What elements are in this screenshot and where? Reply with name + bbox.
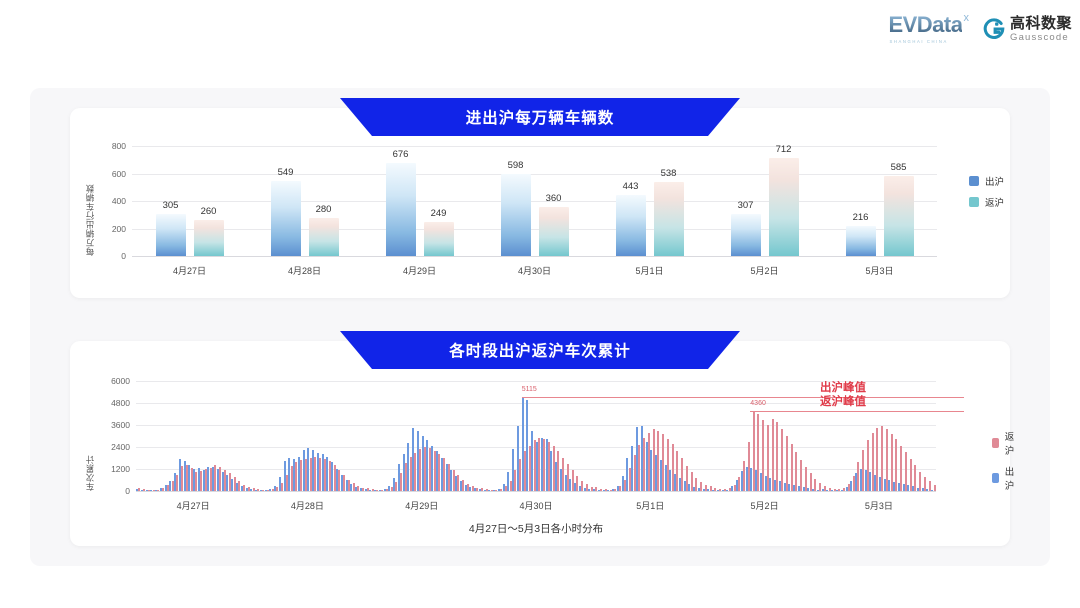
- chart2-gridline: [136, 381, 936, 382]
- chart1-title-banner: 进出沪每万辆车辆数: [340, 98, 740, 136]
- slide-root: EVData x SHANGHAI CHINA 高科数聚 Gausscode 进…: [0, 0, 1080, 608]
- chart2-legend-swatch: [992, 438, 999, 448]
- chart1-legend-item: 返沪: [969, 195, 1004, 209]
- chart1-bar: [769, 158, 799, 256]
- chart1-bar: [386, 163, 416, 256]
- chart1-y-tick: 600: [92, 169, 126, 179]
- chart2-x-tick: 4月29日: [405, 499, 438, 512]
- chart1-bar-value: 307: [738, 200, 754, 211]
- chart1-legend-swatch: [969, 176, 979, 186]
- chart1-legend-label: 返沪: [985, 195, 1004, 209]
- chart1-gridline: [132, 201, 937, 202]
- chart2-title-banner: 各时段出沪返沪车次累计: [340, 331, 740, 369]
- chart1-x-axis: [132, 256, 937, 257]
- evdata-logo-icon: EVData x SHANGHAI CHINA: [888, 14, 969, 44]
- chart2-hour-bar-back: [795, 452, 797, 491]
- chart1-bar-value: 585: [891, 162, 907, 173]
- chart2-legend-swatch: [992, 473, 999, 483]
- chart1-bar: [884, 176, 914, 256]
- chart2-peak-line: [522, 397, 964, 398]
- evdata-superscript: x: [963, 12, 969, 24]
- chart-card-daily-vehicles: 进出沪每万辆车辆数 每万辆出行车辆数02004006008003052604月2…: [70, 108, 1010, 298]
- content-panel: 进出沪每万辆车辆数 每万辆出行车辆数02004006008003052604月2…: [30, 88, 1050, 566]
- chart2-hour-bar-back: [791, 444, 793, 491]
- chart1-legend: 出沪返沪: [969, 174, 1004, 209]
- chart1-bar: [309, 218, 339, 257]
- chart1-bar-value: 676: [393, 149, 409, 160]
- chart2-x-tick: 5月1日: [636, 499, 664, 512]
- chart2-x-tick: 5月2日: [751, 499, 779, 512]
- chart1-bar: [731, 214, 761, 256]
- chart2-y-tick: 3600: [94, 420, 130, 430]
- chart1-bar: [194, 220, 224, 256]
- chart1-y-tick: 800: [92, 141, 126, 151]
- chart1-bar-value: 249: [431, 208, 447, 219]
- chart2-legend-label: 出沪: [1005, 464, 1018, 492]
- chart1-legend-swatch: [969, 197, 979, 207]
- chart2-x-tick: 4月30日: [519, 499, 552, 512]
- chart2-x-tick: 4月28日: [291, 499, 324, 512]
- chart1-bar: [846, 226, 876, 256]
- chart2-legend-label: 返沪: [1005, 429, 1018, 457]
- chart1-gridline: [132, 174, 937, 175]
- chart1-bar-value: 305: [163, 200, 179, 211]
- chart2-y-tick: 1200: [94, 464, 130, 474]
- chart1-bar: [271, 181, 301, 256]
- chart1-gridline: [132, 146, 937, 147]
- chart2-peak-line: [750, 411, 964, 412]
- chart1-bar: [539, 207, 569, 257]
- chart2-peak-value: 4360: [750, 400, 766, 407]
- gausscode-cn-name: 高科数聚: [1010, 16, 1072, 31]
- chart2-hour-bar-back: [781, 429, 783, 491]
- chart1-gridline: [132, 229, 937, 230]
- chart2-legend: 返沪出沪: [992, 429, 1018, 492]
- gausscode-en-name: Gausscode: [1010, 33, 1072, 43]
- chart2-peak-value: 5115: [522, 386, 537, 393]
- chart1-x-tick: 5月3日: [865, 264, 893, 277]
- chart1-bar-value: 260: [201, 206, 217, 217]
- logo-bar: EVData x SHANGHAI CHINA 高科数聚 Gausscode: [888, 14, 1072, 44]
- chart1-bar: [501, 174, 531, 256]
- chart1-legend-item: 出沪: [969, 174, 1004, 188]
- chart1-bar-value: 538: [661, 168, 677, 179]
- chart1-y-tick: 200: [92, 224, 126, 234]
- chart1-x-tick: 4月30日: [518, 264, 551, 277]
- chart1-bar-value: 443: [623, 181, 639, 192]
- chart1-bar: [616, 195, 646, 256]
- gausscode-mark-icon: [983, 18, 1005, 40]
- chart-card-hourly-trips: 各时段出沪返沪车次累计 车次累计012002400360048006000511…: [70, 341, 1010, 546]
- chart1-x-tick: 5月2日: [750, 264, 778, 277]
- chart2-plot-area: 车次累计0120024003600480060005115出沪峰值4360返沪峰…: [136, 381, 936, 491]
- chart2-x-tick: 4月27日: [177, 499, 210, 512]
- chart2-y-tick: 2400: [94, 442, 130, 452]
- chart1-x-tick: 5月1日: [635, 264, 663, 277]
- chart1-bar-value: 712: [776, 144, 792, 155]
- chart1-bar: [654, 182, 684, 256]
- chart2-hour-bar-back: [800, 460, 802, 491]
- chart2-x-axis: [136, 491, 936, 492]
- chart1-bar: [424, 222, 454, 256]
- chart1-bar-value: 598: [508, 160, 524, 171]
- chart1-plot-area: 每万辆出行车辆数02004006008003052604月27日5492804月…: [132, 146, 937, 256]
- chart2-title: 各时段出沪返沪车次累计: [449, 339, 631, 361]
- chart2-gridline: [136, 425, 936, 426]
- chart2-x-caption: 4月27日～5月3日各小时分布: [469, 521, 603, 536]
- chart2-hour-bar-back: [934, 485, 936, 491]
- evdata-wordmark: EVData: [888, 14, 962, 36]
- chart1-x-tick: 4月28日: [288, 264, 321, 277]
- chart1-bar-value: 280: [316, 204, 332, 215]
- gausscode-logo-icon: 高科数聚 Gausscode: [983, 16, 1072, 43]
- chart1-bar-value: 216: [853, 212, 869, 223]
- chart1-title: 进出沪每万辆车辆数: [466, 106, 615, 128]
- evdata-subtitle: SHANGHAI CHINA: [889, 39, 947, 44]
- chart2-hour-bar-back: [786, 436, 788, 491]
- chart1-bar-value: 549: [278, 167, 294, 178]
- chart2-y-tick: 4800: [94, 398, 130, 408]
- chart1-x-tick: 4月29日: [403, 264, 436, 277]
- chart2-legend-item: 返沪: [992, 429, 1018, 457]
- chart2-peak-label: 返沪峰值: [820, 393, 866, 409]
- chart1-x-tick: 4月27日: [173, 264, 206, 277]
- chart2-y-tick: 0: [94, 486, 130, 496]
- chart1-legend-label: 出沪: [985, 174, 1004, 188]
- chart1-y-tick: 400: [92, 196, 126, 206]
- chart1-bar: [156, 214, 186, 256]
- chart2-y-tick: 6000: [94, 376, 130, 386]
- chart2-x-tick: 5月3日: [865, 499, 893, 512]
- chart2-legend-item: 出沪: [992, 464, 1018, 492]
- chart2-gridline: [136, 403, 936, 404]
- chart1-bar-value: 360: [546, 193, 562, 204]
- chart1-y-tick: 0: [92, 251, 126, 261]
